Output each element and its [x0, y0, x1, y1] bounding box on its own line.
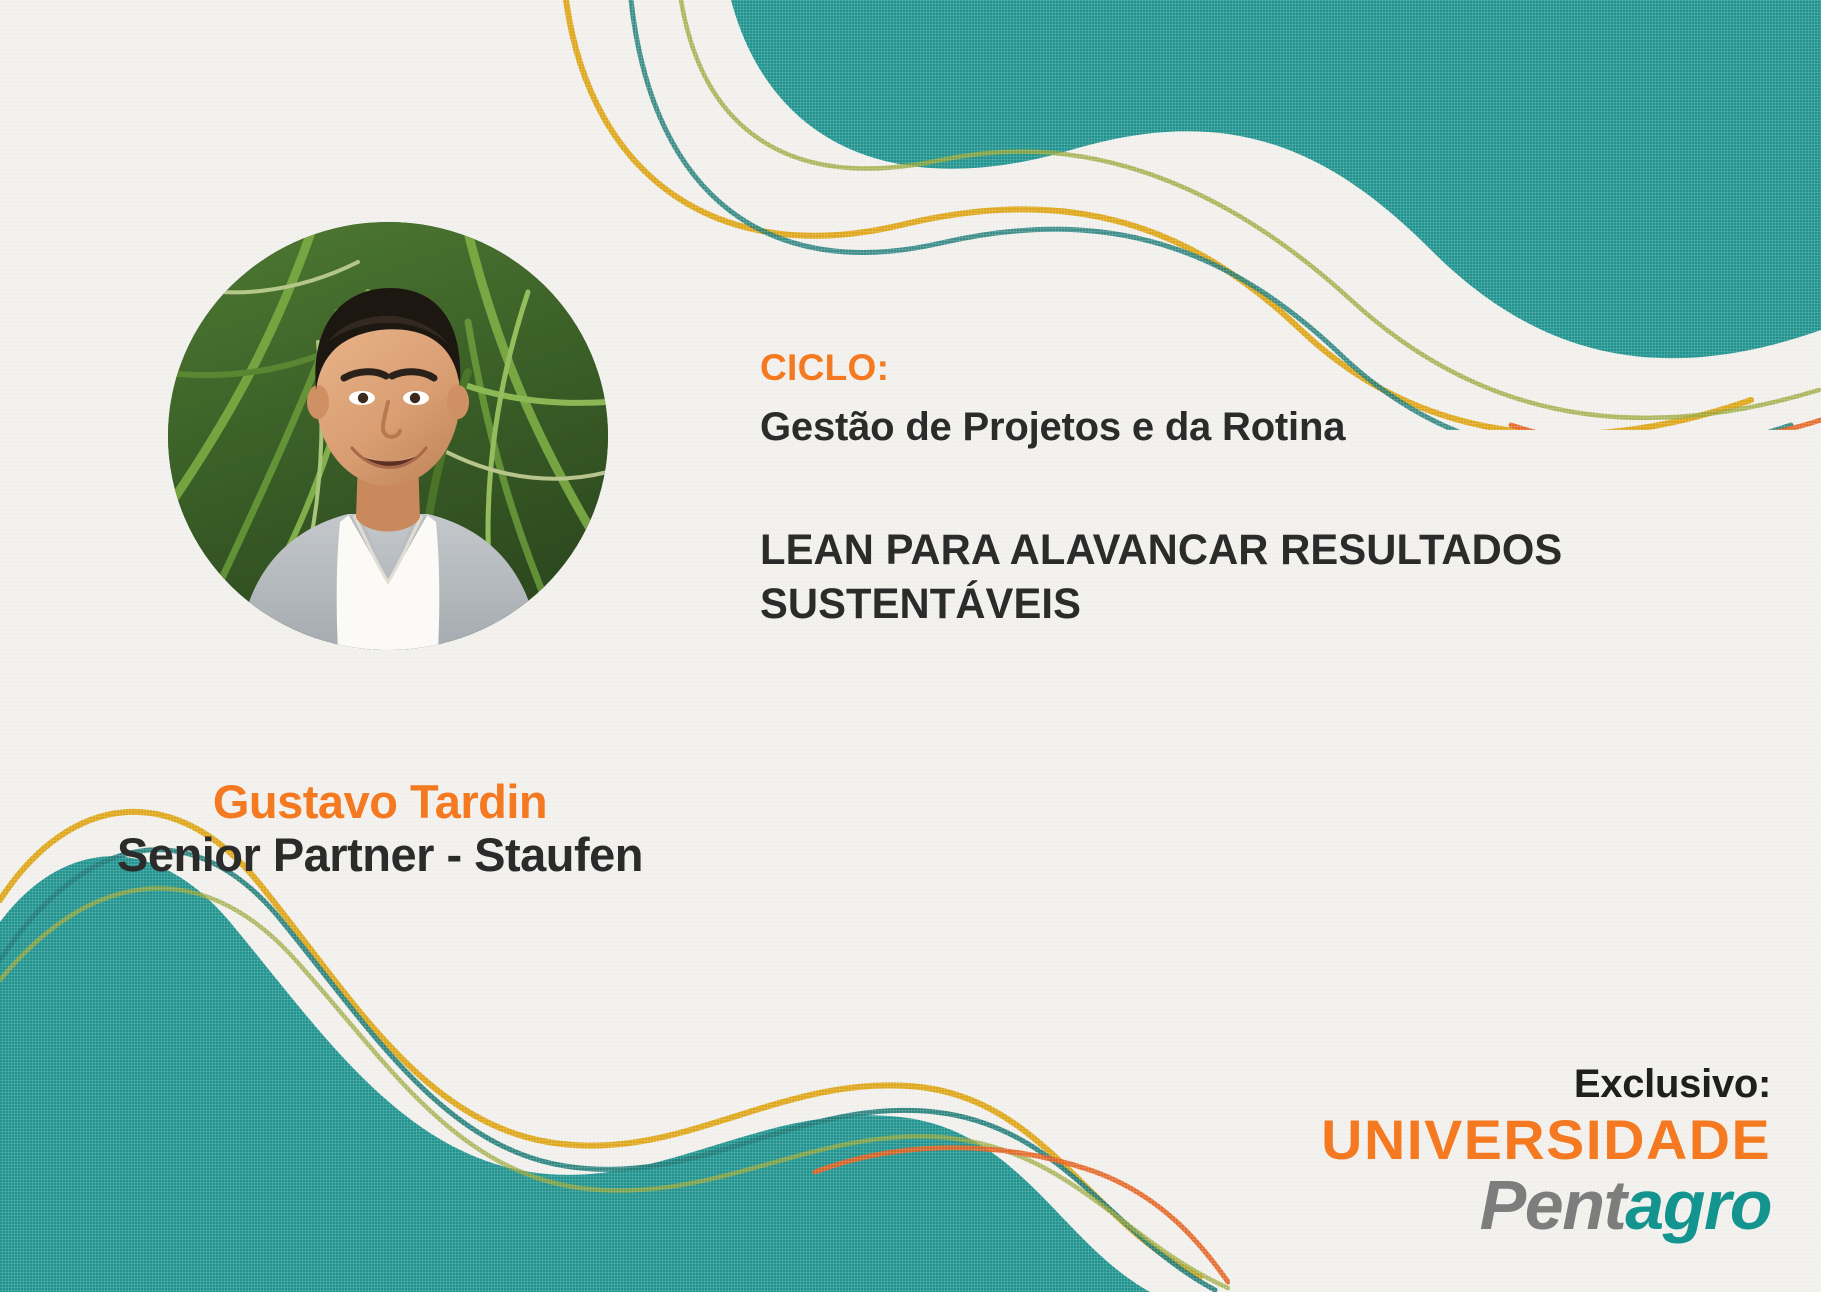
speaker-portrait-block [110, 200, 630, 670]
promo-slide: Gustavo Tardin Senior Partner - Staufen … [0, 0, 1821, 1292]
speaker-photo [168, 222, 608, 650]
session-headline: LEAN PARA ALAVANCAR RESULTADOS SUSTENTÁV… [760, 523, 1749, 631]
headline-line-1: LEAN PARA ALAVANCAR RESULTADOS [760, 523, 1749, 577]
speaker-info: Gustavo Tardin Senior Partner - Staufen [0, 776, 760, 881]
universidade-wordmark: UNIVERSIDADE [1321, 1112, 1771, 1168]
main-copy: CICLO: Gestão de Projetos e da Rotina LE… [760, 345, 1780, 632]
pentagro-logo-pent: Pent [1480, 1166, 1626, 1244]
pentagro-logo-agro: agro [1625, 1166, 1771, 1244]
speaker-name: Gustavo Tardin [0, 776, 760, 829]
ciclo-subject: Gestão de Projetos e da Rotina [760, 401, 1780, 453]
ciclo-eyebrow: CICLO: [760, 345, 1780, 391]
pentagro-logo: Pentagro [1330, 1170, 1771, 1240]
avatar [168, 222, 608, 650]
brand-lockup: Exclusivo: UNIVERSIDADE Pentagro [1330, 1062, 1771, 1240]
speaker-role: Senior Partner - Staufen [0, 829, 760, 882]
exclusivo-label: Exclusivo: [1330, 1062, 1771, 1106]
headline-line-2: SUSTENTÁVEIS [760, 577, 1749, 631]
